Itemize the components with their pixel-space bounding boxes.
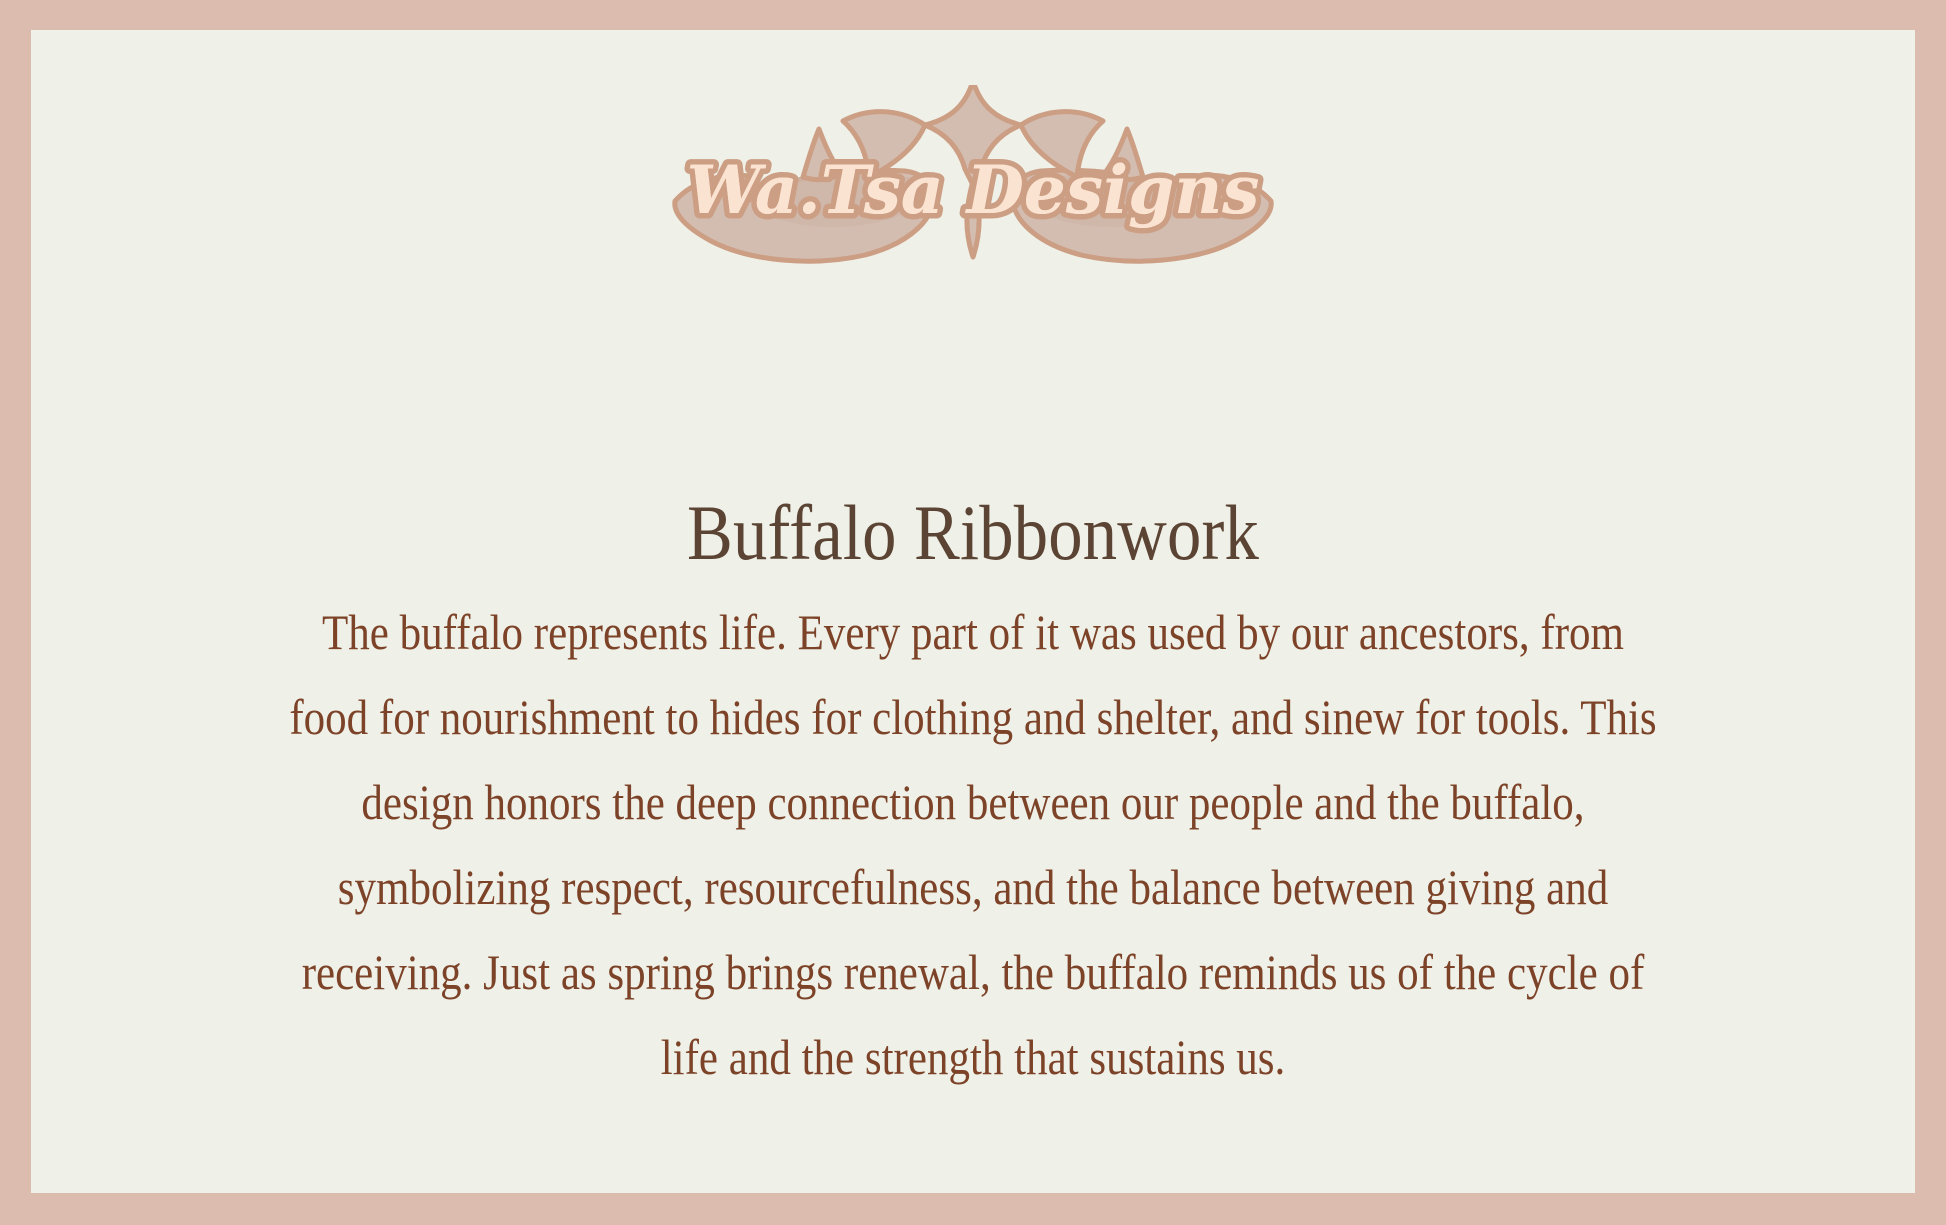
description-line: design honors the deep connection betwee… (163, 760, 1783, 845)
card-border-frame: Wa.Tsa Designs Wa.Tsa Designs Buffalo Ri… (0, 0, 1946, 1225)
page-title: Buffalo Ribbonwork (144, 494, 1802, 572)
brand-logo: Wa.Tsa Designs Wa.Tsa Designs (31, 85, 1915, 265)
description-line: life and the strength that sustains us. (163, 1015, 1783, 1100)
ribbonwork-floral-motif-icon: Wa.Tsa Designs Wa.Tsa Designs (653, 85, 1293, 265)
design-description: The buffalo represents life. Every part … (31, 590, 1915, 1100)
brand-logo-text: Wa.Tsa Designs Wa.Tsa Designs (687, 151, 1260, 229)
description-line: symbolizing respect, resourcefulness, an… (163, 845, 1783, 930)
svg-text:Wa.Tsa Designs: Wa.Tsa Designs (687, 151, 1260, 229)
description-line: receiving. Just as spring brings renewal… (163, 930, 1783, 1015)
card-panel: Wa.Tsa Designs Wa.Tsa Designs Buffalo Ri… (31, 30, 1915, 1193)
description-line: The buffalo represents life. Every part … (163, 590, 1783, 675)
description-line: food for nourishment to hides for clothi… (163, 675, 1783, 760)
